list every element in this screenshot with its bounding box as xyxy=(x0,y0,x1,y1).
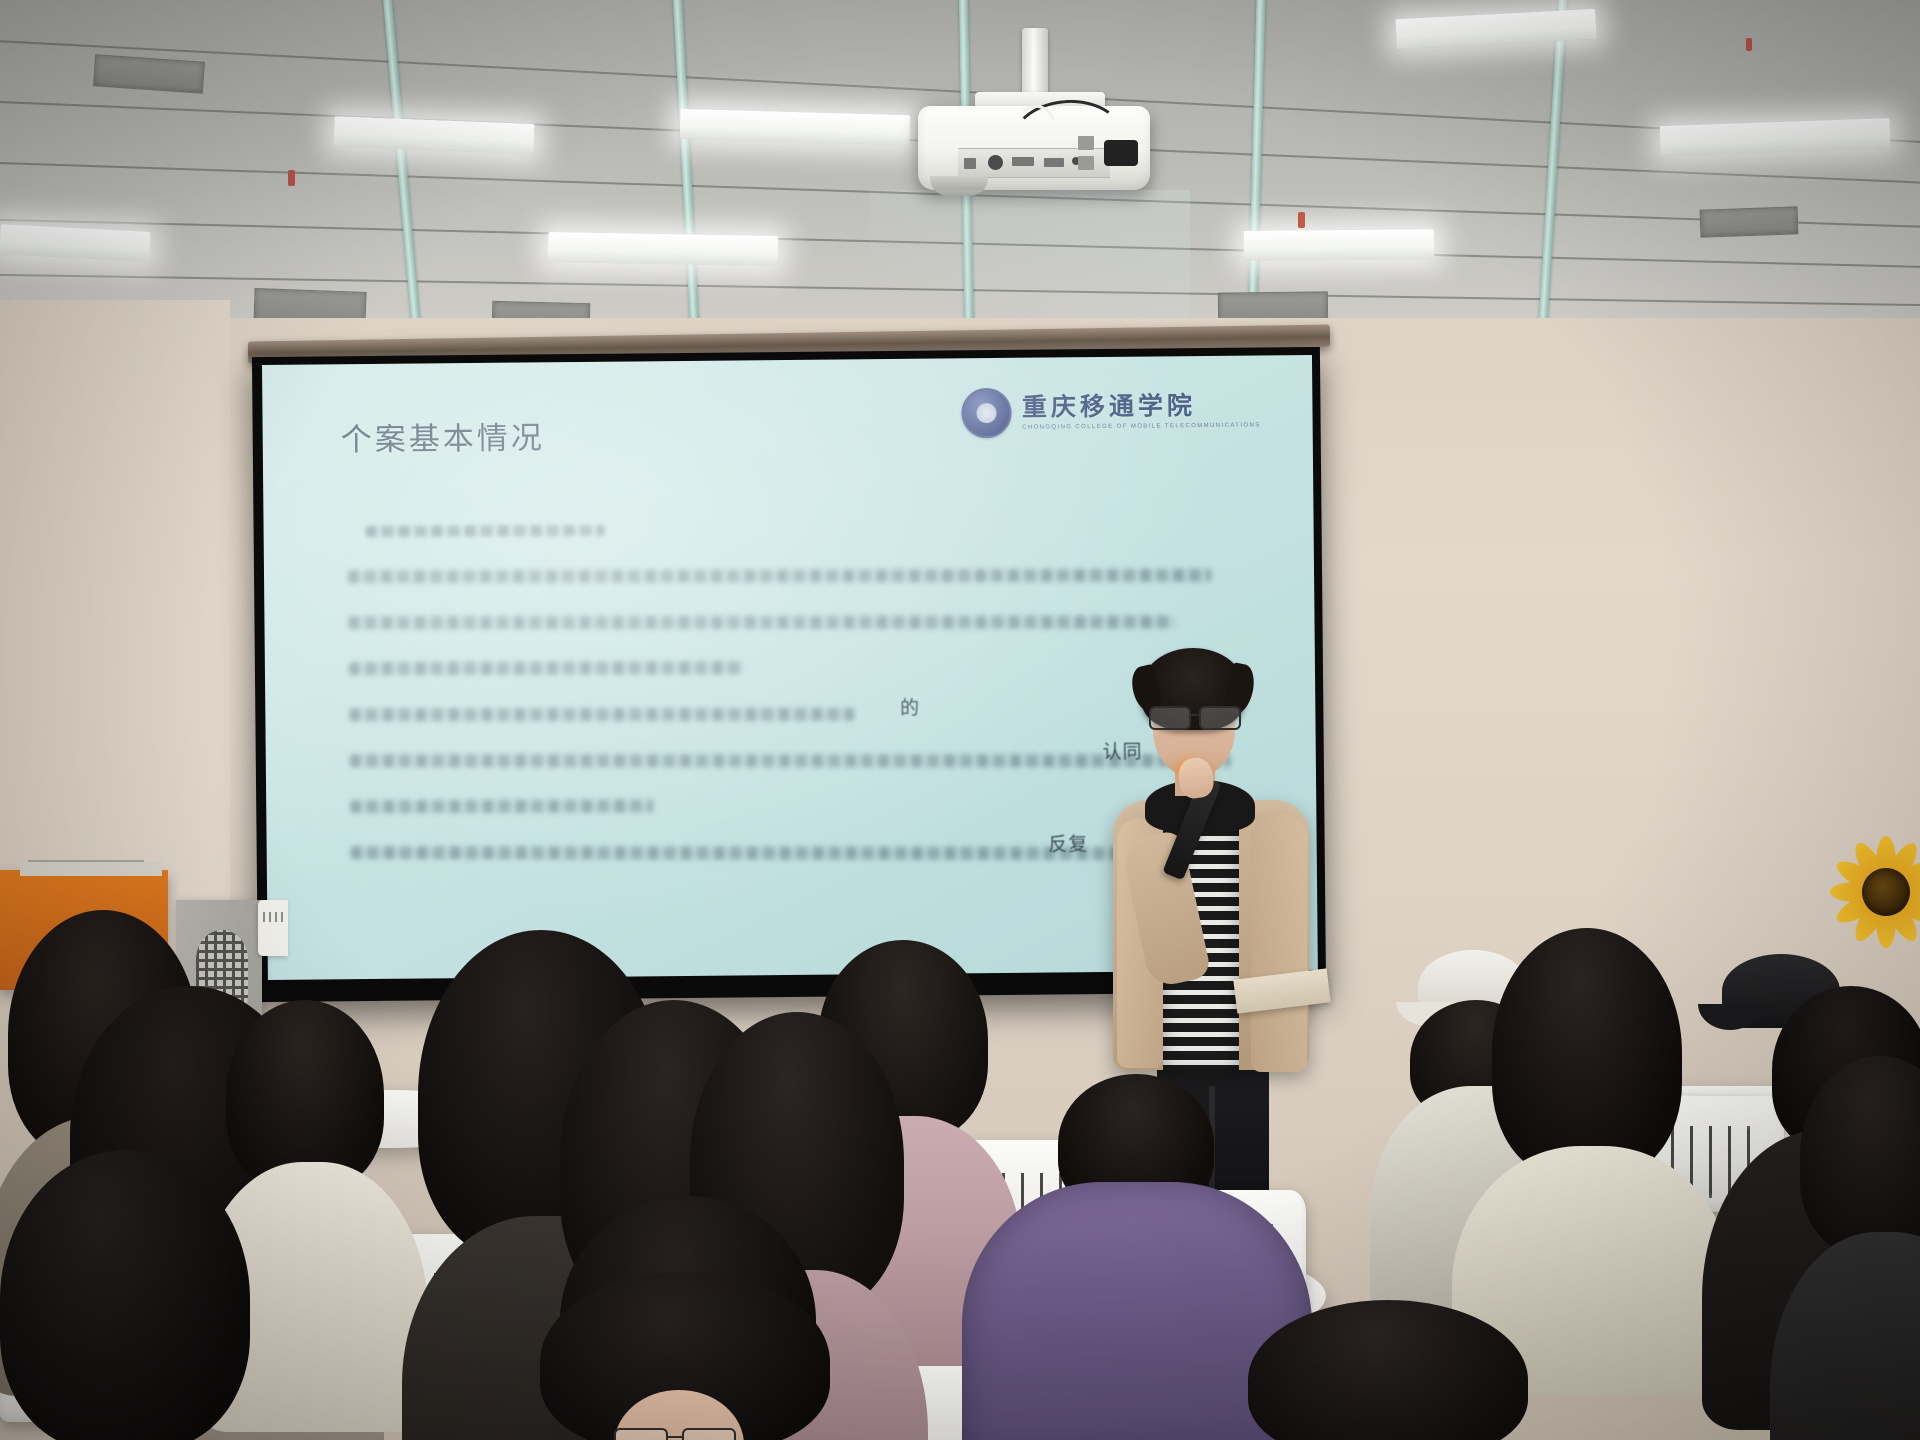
sunflower-center-icon xyxy=(1862,868,1910,916)
ceiling-light xyxy=(548,232,778,266)
hair xyxy=(0,1150,250,1440)
slide-visible-char: 反复 xyxy=(1048,829,1088,856)
ceiling-light xyxy=(0,224,151,262)
ceiling-light xyxy=(680,109,911,145)
slide-body-line xyxy=(350,799,653,813)
ceiling-light xyxy=(1244,229,1434,261)
slide-visible-char: 的 xyxy=(900,693,920,720)
ceiling-rail xyxy=(1247,0,1267,330)
ceiling-light xyxy=(1660,118,1891,156)
slide-body-line xyxy=(348,569,1211,584)
projector-plug xyxy=(1104,140,1138,166)
university-name-en: CHONGQING COLLEGE OF MOBILE TELECOMMUNIC… xyxy=(1022,422,1261,430)
sprinkler-head xyxy=(1298,212,1305,228)
classroom-photo-scene: 个案基本情况 重庆移通学院 CHONGQING COLLEGE OF MOBIL… xyxy=(0,0,1920,1440)
sprinkler-head xyxy=(288,170,295,186)
ceiling-rail xyxy=(671,0,702,330)
air-vent xyxy=(93,54,205,94)
slide-body-line xyxy=(349,661,744,675)
wall-control-panel[interactable] xyxy=(258,900,288,956)
slide-title: 个案基本情况 xyxy=(340,412,544,459)
slide-body-line xyxy=(349,708,854,721)
slide-body-line xyxy=(366,525,605,537)
sprinkler-head xyxy=(1746,38,1752,51)
audience-glasses xyxy=(612,1428,738,1440)
cabinet-top-surface xyxy=(20,862,162,876)
ceiling-light xyxy=(333,116,534,154)
projector-mount-pole xyxy=(1022,28,1048,102)
air-vent xyxy=(1700,206,1799,237)
slide-body-line xyxy=(348,616,1174,630)
sunflower-decoration xyxy=(1826,832,1920,952)
university-logo: 重庆移通学院 CHONGQING COLLEGE OF MOBILE TELEC… xyxy=(962,385,1261,438)
presenter-glasses xyxy=(1147,706,1243,726)
projector-lens xyxy=(930,176,988,196)
ceiling-light xyxy=(1395,9,1596,49)
university-name-cn: 重庆移通学院 xyxy=(1022,393,1261,420)
university-seal-icon xyxy=(962,388,1012,438)
hair xyxy=(1492,928,1682,1178)
